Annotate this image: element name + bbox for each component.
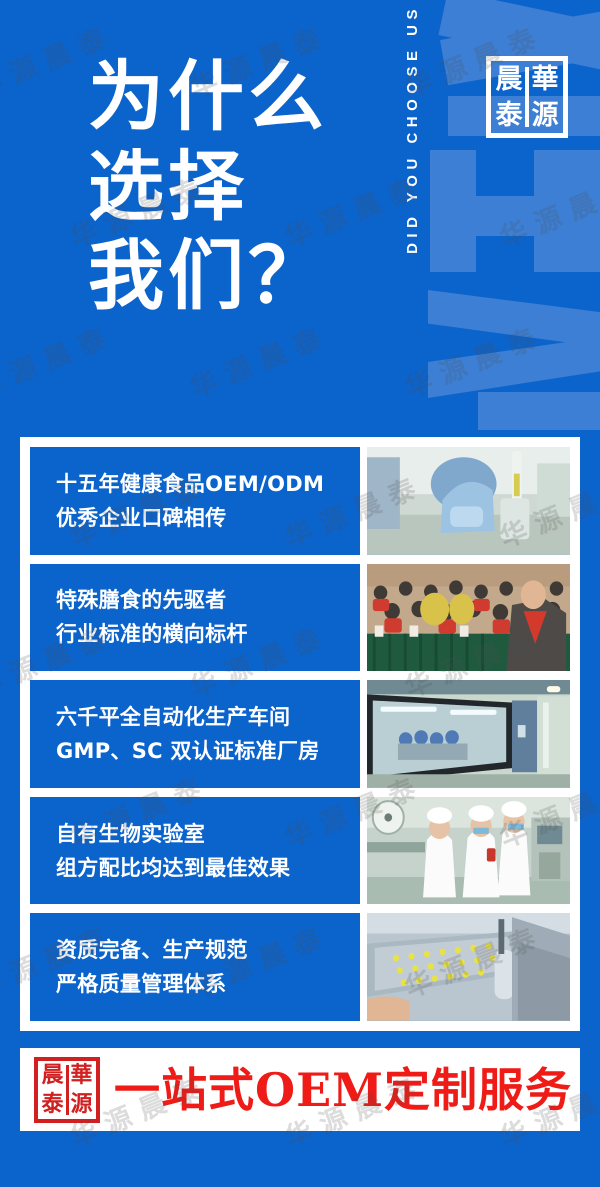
feature-card-photo-cleanroom bbox=[367, 680, 570, 788]
brand-seal-logo-white: 晨 華 泰 源 bbox=[486, 56, 568, 138]
feature-line-1: 自有生物实验室 bbox=[56, 817, 360, 851]
feature-card[interactable]: 特殊膳食的先驱者 行业标准的横向标杆 bbox=[30, 564, 570, 672]
banner-slogan: 一站式OEM定制服务 bbox=[114, 1067, 572, 1113]
seal-char-3: 泰 bbox=[41, 1093, 63, 1115]
feature-card-photo-conference bbox=[367, 564, 570, 672]
feature-card-photo-production-line bbox=[367, 797, 570, 905]
feature-card-photo-packaging-machine bbox=[367, 913, 570, 1021]
why-letter-y-stroke-2 bbox=[428, 336, 600, 398]
vertical-caption: DID YOU CHOOSE US bbox=[392, 0, 432, 400]
why-letter-y-stroke-1 bbox=[428, 290, 600, 348]
feature-card[interactable]: 自有生物实验室 组方配比均达到最佳效果 bbox=[30, 797, 570, 905]
why-letter-y-stroke-3 bbox=[478, 392, 600, 430]
feature-cards-frame: 十五年健康食品OEM/ODM 优秀企业口碑相传 bbox=[20, 437, 580, 1031]
seal-char-4: 源 bbox=[532, 102, 559, 129]
feature-card[interactable]: 六千平全自动化生产车间 GMP、SC 双认证标准厂房 bbox=[30, 680, 570, 788]
feature-line-2: GMP、SC 双认证标准厂房 bbox=[56, 734, 360, 768]
seal-char-1: 晨 bbox=[41, 1064, 63, 1086]
poster-root: 为什么 选择 我们？ DID YOU CHOOSE US 晨 華 泰 源 十五年… bbox=[0, 0, 600, 1187]
feature-line-2: 行业标准的横向标杆 bbox=[56, 617, 360, 651]
why-letter-h-stroke-3 bbox=[430, 196, 600, 236]
page-title-line-3: 我们？ bbox=[88, 231, 328, 321]
page-title: 为什么 选择 我们？ bbox=[88, 52, 328, 321]
feature-card-photo-lab-technician bbox=[367, 447, 570, 555]
page-title-line-2: 选择 bbox=[88, 142, 328, 232]
bottom-banner: 晨 華 泰 源 一站式OEM定制服务 bbox=[20, 1048, 580, 1131]
feature-card-text: 六千平全自动化生产车间 GMP、SC 双认证标准厂房 bbox=[30, 680, 360, 788]
feature-line-1: 六千平全自动化生产车间 bbox=[56, 700, 360, 734]
seal-char-3: 泰 bbox=[496, 102, 523, 129]
watermark-text: 华源晨泰 bbox=[183, 314, 335, 406]
feature-card-text: 十五年健康食品OEM/ODM 优秀企业口碑相传 bbox=[30, 447, 360, 555]
feature-card-text: 自有生物实验室 组方配比均达到最佳效果 bbox=[30, 797, 360, 905]
page-title-line-1: 为什么 bbox=[88, 52, 328, 142]
feature-card-text: 特殊膳食的先驱者 行业标准的横向标杆 bbox=[30, 564, 360, 672]
feature-card[interactable]: 十五年健康食品OEM/ODM 优秀企业口碑相传 bbox=[30, 447, 570, 555]
feature-line-2: 严格质量管理体系 bbox=[56, 967, 360, 1001]
seal-char-2: 華 bbox=[532, 66, 559, 93]
vertical-caption-text: DID YOU CHOOSE US bbox=[405, 0, 420, 254]
seal-char-1: 晨 bbox=[496, 66, 523, 93]
watermark-text: 华源晨泰 bbox=[0, 314, 120, 406]
feature-line-1: 资质完备、生产规范 bbox=[56, 933, 360, 967]
seal-char-4: 源 bbox=[70, 1093, 92, 1115]
brand-seal-logo-red: 晨 華 泰 源 bbox=[34, 1057, 100, 1123]
feature-line-1: 特殊膳食的先驱者 bbox=[56, 583, 360, 617]
feature-card[interactable]: 资质完备、生产规范 严格质量管理体系 bbox=[30, 913, 570, 1021]
feature-card-text: 资质完备、生产规范 严格质量管理体系 bbox=[30, 913, 360, 1021]
feature-line-2: 组方配比均达到最佳效果 bbox=[56, 851, 360, 885]
feature-line-2: 优秀企业口碑相传 bbox=[56, 501, 360, 535]
seal-char-2: 華 bbox=[70, 1064, 92, 1086]
feature-line-1: 十五年健康食品OEM/ODM bbox=[56, 467, 360, 501]
